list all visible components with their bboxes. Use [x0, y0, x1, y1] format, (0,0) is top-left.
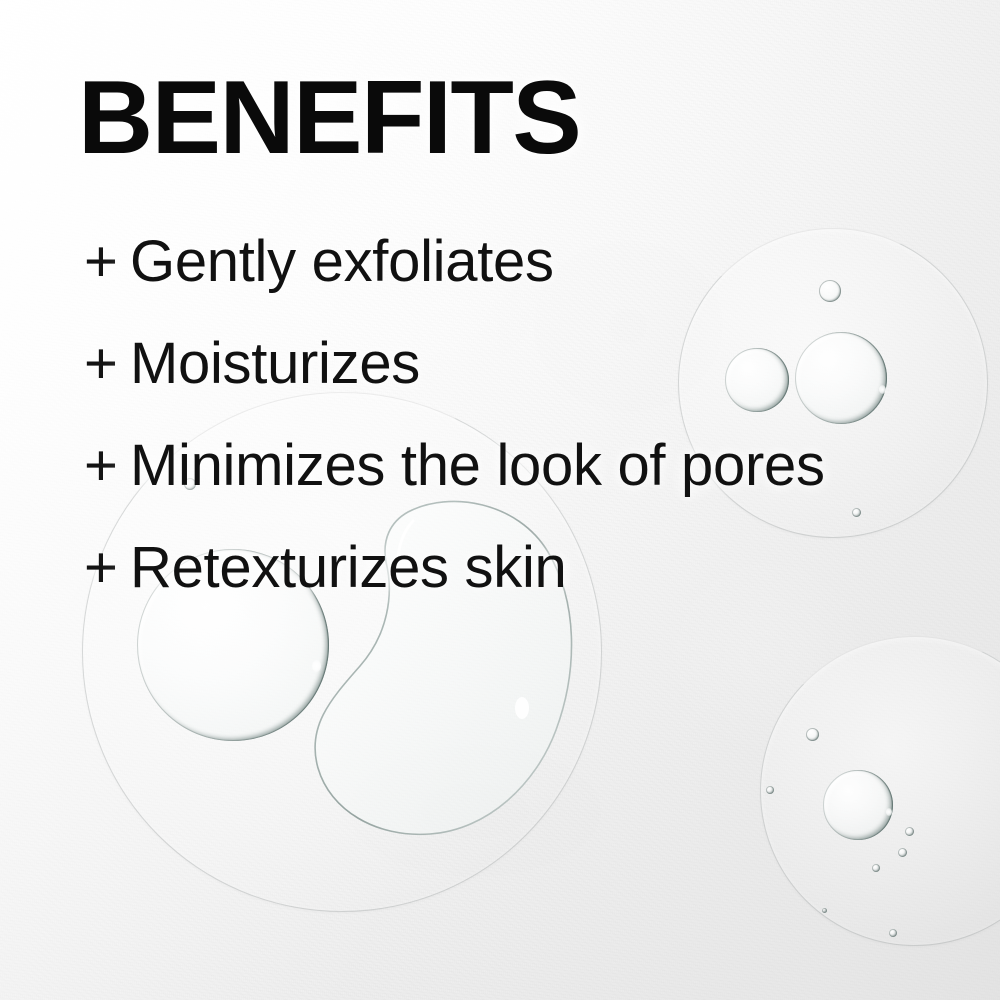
plus-icon: + [84, 432, 130, 499]
benefits-list: + Gently exfoliates + Moisturizes + Mini… [84, 228, 825, 636]
plus-icon: + [84, 330, 130, 397]
benefit-label: Gently exfoliates [130, 228, 554, 295]
benefit-item-4: + Retexturizes skin [84, 534, 825, 636]
page-title: BENEFITS [78, 66, 580, 170]
benefit-label: Minimizes the look of pores [130, 432, 825, 499]
benefit-item-1: + Gently exfoliates [84, 228, 825, 330]
text-layer: BENEFITS + Gently exfoliates + Moisturiz… [0, 0, 1000, 1000]
benefit-item-3: + Minimizes the look of pores [84, 432, 825, 534]
plus-icon: + [84, 534, 130, 601]
benefits-graphic: BENEFITS + Gently exfoliates + Moisturiz… [0, 0, 1000, 1000]
benefit-item-2: + Moisturizes [84, 330, 825, 432]
plus-icon: + [84, 228, 130, 295]
benefit-label: Retexturizes skin [130, 534, 567, 601]
benefit-label: Moisturizes [130, 330, 420, 397]
